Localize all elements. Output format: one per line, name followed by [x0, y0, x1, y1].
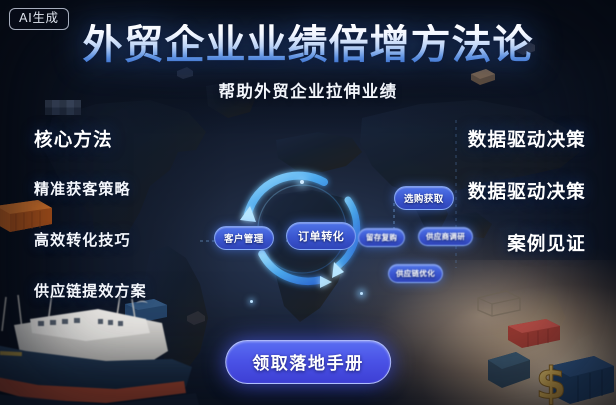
- crate-frame-right: [476, 288, 522, 318]
- page-title: 外贸企业业绩倍增方法论: [0, 24, 616, 67]
- mosaic-redaction-block: [45, 100, 81, 115]
- node-label: 供应链优化: [396, 268, 435, 279]
- left-item-3[interactable]: 供应链提效方案: [34, 280, 147, 301]
- node-label: 选购获取: [404, 191, 444, 205]
- left-item-1[interactable]: 精准获客策略: [34, 178, 147, 199]
- cta-button[interactable]: 领取落地手册: [225, 340, 391, 384]
- node-label: 供应商调研: [426, 231, 465, 242]
- right-item-2[interactable]: 数据驱动决策: [468, 178, 586, 204]
- node-retain-repurchase[interactable]: 留存复购: [358, 228, 405, 247]
- node-label: 留存复购: [366, 232, 397, 243]
- ai-generated-badge: AI生成: [9, 8, 69, 30]
- cargo-ship: [0, 289, 200, 405]
- node-label: 订单转化: [298, 228, 344, 244]
- left-item-2[interactable]: 高效转化技巧: [34, 229, 147, 250]
- node-supplier-research[interactable]: 供应商调研: [418, 227, 473, 246]
- node-select-acquire[interactable]: 选购获取: [394, 186, 454, 210]
- node-customer-management[interactable]: 客户管理: [214, 226, 274, 250]
- node-supply-chain-optimize[interactable]: 供应链优化: [388, 264, 443, 283]
- teal-container-right: [486, 348, 532, 390]
- right-item-1[interactable]: 数据驱动决策: [468, 126, 586, 152]
- right-feature-column: 数据驱动决策 数据驱动决策 案例见证: [468, 126, 586, 256]
- dollar-sign-coin: $: [528, 358, 574, 405]
- svg-text:$: $: [536, 358, 567, 405]
- red-container-right: [506, 316, 562, 352]
- page-subtitle: 帮助外贸企业拉伸业绩: [0, 78, 616, 102]
- left-feature-column: 核心方法 精准获客策略 高效转化技巧 供应链提效方案: [34, 126, 147, 301]
- left-column-heading: 核心方法: [34, 126, 147, 152]
- node-label: 客户管理: [224, 231, 264, 245]
- right-item-3[interactable]: 案例见证: [468, 230, 586, 256]
- poster-canvas: $: [0, 0, 616, 405]
- node-order-conversion[interactable]: 订单转化: [286, 222, 356, 250]
